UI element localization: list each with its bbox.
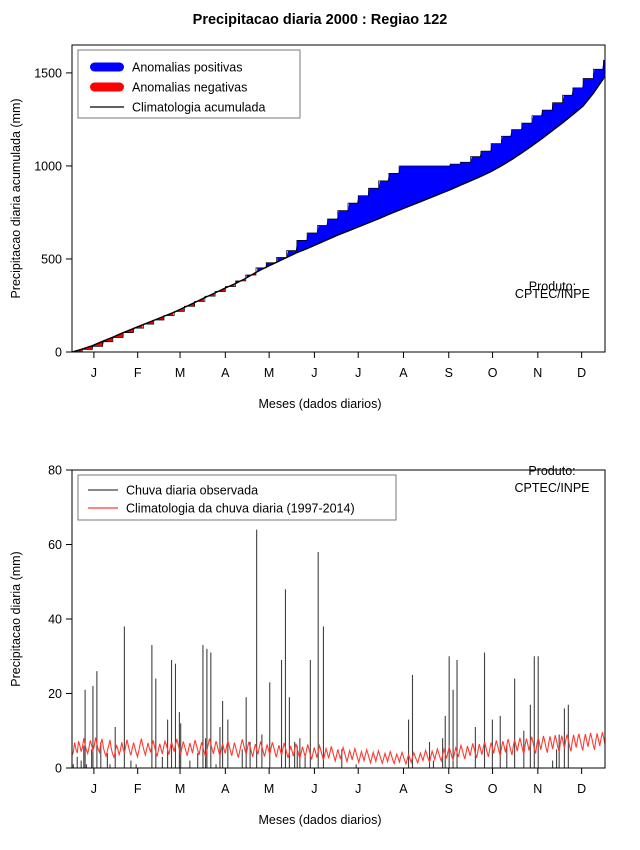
x-tick-label: J	[355, 366, 361, 380]
daily-precipitation-panel: 020406080JFMAMJJASONDMeses (dados diario…	[0, 430, 640, 850]
x-tick-label: O	[488, 366, 498, 380]
legend: Anomalias positivasAnomalias negativasCl…	[78, 50, 300, 118]
producer-label-line1: Produto:	[528, 464, 575, 478]
x-axis-label: Meses (dados diarios)	[259, 813, 382, 827]
y-axis-label: Precipitacao diaria acumulada (mm)	[9, 98, 23, 298]
x-tick-label: J	[91, 366, 97, 380]
legend: Chuva diaria observadaClimatologia da ch…	[78, 475, 396, 520]
x-tick-label: A	[399, 782, 408, 796]
y-tick-label: 500	[41, 252, 62, 266]
x-tick-label: A	[399, 366, 408, 380]
x-tick-label: M	[175, 366, 185, 380]
legend-label: Climatologia da chuva diaria (1997-2014)	[126, 502, 355, 516]
legend-label: Anomalias positivas	[132, 61, 242, 75]
x-tick-label: O	[488, 782, 498, 796]
producer-label-line2: CPTEC/INPE	[515, 287, 590, 301]
figure-root: Precipitacao diaria 2000 : Regiao 122050…	[0, 0, 640, 850]
y-tick-label: 20	[48, 687, 62, 701]
x-tick-label: D	[577, 782, 586, 796]
legend-swatch	[90, 63, 124, 72]
x-axis-label: Meses (dados diarios)	[259, 397, 382, 411]
y-tick-label: 80	[48, 464, 62, 478]
y-tick-label: 1000	[34, 159, 62, 173]
x-tick-label: S	[445, 782, 453, 796]
x-tick-label: M	[264, 782, 274, 796]
page-title: Precipitacao diaria 2000 : Regiao 122	[193, 12, 448, 28]
x-tick-label: A	[221, 366, 230, 380]
x-tick-label: J	[91, 782, 97, 796]
y-tick-label: 0	[55, 346, 62, 360]
legend-swatch	[90, 83, 124, 92]
x-tick-label: M	[264, 366, 274, 380]
legend-label: Chuva diaria observada	[126, 484, 258, 498]
daily-chart-svg: 020406080JFMAMJJASONDMeses (dados diario…	[0, 430, 640, 850]
x-tick-label: J	[355, 782, 361, 796]
x-tick-label: F	[134, 366, 142, 380]
x-tick-label: S	[445, 366, 453, 380]
cumulative-precipitation-panel: Precipitacao diaria 2000 : Regiao 122050…	[0, 0, 640, 430]
legend-label: Anomalias negativas	[132, 81, 247, 95]
y-axis-label: Precipitacao diaria (mm)	[9, 551, 23, 686]
positive-anomaly-area	[277, 60, 605, 262]
y-tick-label: 40	[48, 613, 62, 627]
y-tick-label: 0	[55, 762, 62, 776]
y-tick-label: 60	[48, 538, 62, 552]
x-tick-label: J	[311, 782, 317, 796]
y-tick-label: 1500	[34, 66, 62, 80]
x-tick-label: D	[577, 366, 586, 380]
producer-label-line2: CPTEC/INPE	[514, 481, 589, 495]
x-tick-label: M	[175, 782, 185, 796]
x-tick-label: N	[533, 782, 542, 796]
cumulative-chart-svg: Precipitacao diaria 2000 : Regiao 122050…	[0, 0, 640, 430]
legend-label: Climatologia acumulada	[132, 101, 265, 115]
x-tick-label: N	[533, 366, 542, 380]
x-tick-label: F	[134, 782, 142, 796]
observed-daily-spikes	[73, 530, 568, 768]
x-tick-label: A	[221, 782, 230, 796]
x-tick-label: J	[311, 366, 317, 380]
